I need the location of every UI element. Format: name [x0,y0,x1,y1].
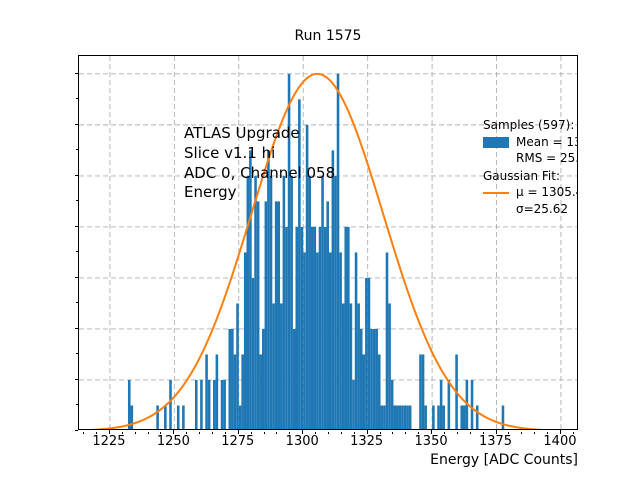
histogram-bar [241,354,244,430]
matplotlib-figure: Run 1575 02468101214 1225125012751300132… [0,0,640,480]
chart-canvas [79,56,578,430]
y-tick-mark [75,430,79,431]
histogram-bar [399,405,402,430]
histogram-bar [311,227,314,430]
histogram-bar [393,405,396,430]
histogram-bar [303,252,306,430]
x-tick-mark [276,432,277,435]
x-tick-mark [302,430,303,434]
histogram-bar [409,405,412,430]
x-tick-mark [251,432,252,435]
x-tick-mark [212,432,213,435]
histogram-bar [381,405,384,430]
histogram-bar [437,405,440,430]
x-tick-mark [496,430,497,434]
histogram-bar [476,405,479,430]
x-tick-label: 1250 [157,434,190,449]
x-tick-mark [225,432,226,435]
x-tick-mark [264,432,265,435]
legend-entry-histogram: Mean = 1305.448 [483,135,578,151]
x-tick-mark [109,430,110,434]
histogram-bar [324,227,327,430]
histogram-bar [406,405,409,430]
legend-samples-header: Samples (597): [483,118,578,134]
x-tick-mark [521,432,522,435]
histogram-bar [502,405,505,430]
legend: Samples (597): Mean = 1305.448 RMS = 25.… [483,118,578,220]
histogram-bar [424,405,427,430]
histogram-bar [208,380,211,430]
x-tick-mark [560,430,561,434]
histogram-bar [156,405,159,430]
histogram-bar [254,176,257,430]
histogram-bar [401,405,404,430]
x-tick-mark [418,432,419,435]
histogram-bar [200,380,203,430]
x-tick-label: 1300 [286,434,319,449]
histogram-bar [213,380,216,430]
histogram-bar [265,201,268,430]
legend-group-samples: Samples (597): Mean = 1305.448 RMS = 25.… [483,118,578,167]
histogram-bar [347,227,350,430]
x-tick-mark [83,432,84,435]
y-axis-tick-labels: 02468101214 [0,0,72,480]
x-tick-mark [367,430,368,434]
histogram-bar [375,329,378,430]
histogram-bar [422,354,425,430]
histogram-bar [448,380,451,430]
histogram-bar [316,252,319,430]
histogram-bar [252,278,255,430]
annotation-line-3: ADC 0, Channel 058 [184,164,335,182]
x-tick-label: 1350 [415,434,448,449]
histogram-bar [164,405,167,430]
histogram-bar [270,176,273,430]
histogram-bar [177,405,180,430]
legend-fit-sigma: σ=25.62 [516,202,578,218]
x-tick-label: 1325 [350,434,383,449]
x-tick-mark [341,432,342,435]
x-tick-mark [160,432,161,435]
histogram-bar [329,252,332,430]
histogram-bar [205,354,208,430]
histogram-bar [360,329,363,430]
histogram-bar [257,201,260,430]
histogram-bar [337,74,340,430]
x-tick-mark [199,432,200,435]
histogram-bar [419,354,422,430]
histogram-bar [432,405,435,430]
histogram-bar [368,278,371,430]
x-tick-label: 1400 [543,434,576,449]
legend-entry-fit: μ = 1305.45 [483,185,578,201]
x-tick-mark [289,432,290,435]
x-tick-mark [328,432,329,435]
x-tick-mark [444,432,445,435]
x-tick-mark [122,432,123,435]
histogram-bar [357,303,360,430]
histogram-bar [247,176,250,430]
histogram-bar [290,176,293,430]
x-tick-mark [315,432,316,435]
histogram-bar [195,380,198,430]
x-tick-mark [392,432,393,435]
histogram-bar [236,303,239,430]
x-axis-label: Energy [ADC Counts] [430,452,578,468]
histogram-bar [370,329,373,430]
histogram-bar [440,380,443,430]
histogram-bar [373,329,376,430]
legend-group-fit: Gaussian Fit: μ = 1305.45 σ=25.62 [483,169,578,218]
histogram-bar [182,405,185,430]
histogram-bar [283,176,286,430]
x-tick-label: 1375 [479,434,512,449]
histogram-bar [391,380,394,430]
histogram-bar [404,405,407,430]
histogram-bar [216,354,219,430]
x-tick-mark [238,430,239,434]
histogram-bar [301,227,304,430]
histogram-bar [321,176,324,430]
histogram-bar [442,405,445,430]
histogram-bar [334,176,337,430]
x-tick-label: 1225 [92,434,125,449]
histogram-bar [319,227,322,430]
histogram-bar [239,405,242,430]
histogram-bar [221,380,224,430]
histogram-bar [231,329,234,430]
histogram-bar [293,329,296,430]
histogram-bar [234,354,237,430]
x-tick-mark [380,432,381,435]
histogram-bar [471,380,474,430]
page-title: Run 1575 [78,28,578,44]
plot-area: ATLAS Upgrade Slice v1.1 hi ADC 0, Chann… [78,55,578,430]
x-tick-mark [405,432,406,435]
x-tick-mark [354,432,355,435]
histogram-bar [339,252,342,430]
x-tick-mark [173,430,174,434]
histogram-bar [396,405,399,430]
histogram-bar [326,201,329,430]
histogram-bar [128,380,131,430]
annotation-line-4: Energy [184,183,237,201]
legend-samples-rms: RMS = 25.623 [516,151,578,167]
histogram-bar [131,405,134,430]
legend-samples-mean: Mean = 1305.448 [516,135,578,151]
legend-fit-header: Gaussian Fit: [483,169,578,185]
histogram-bar [365,278,368,430]
x-tick-mark [96,432,97,435]
histogram-bar [342,303,345,430]
histogram-bar [308,176,311,430]
legend-swatch-histogram [483,137,509,148]
x-tick-mark [457,432,458,435]
x-tick-mark [547,432,548,435]
histogram-bar [275,201,278,430]
x-tick-mark [508,432,509,435]
histogram-bar [355,252,358,430]
annotation-text: ATLAS Upgrade Slice v1.1 hi ADC 0, Chann… [184,124,335,203]
x-tick-mark [470,432,471,435]
histogram-bar [228,329,231,430]
histogram-bar [363,354,366,430]
y-axis-label: Entries [0,177,2,222]
histogram-bar [460,405,463,430]
x-tick-mark [186,432,187,435]
x-tick-mark [431,430,432,434]
histogram-bar [277,201,280,430]
histogram-bar [259,354,262,430]
histogram-bar [295,227,298,430]
histogram-bar [314,227,317,430]
annotation-line-1: ATLAS Upgrade [184,124,300,142]
x-tick-mark [135,432,136,435]
histogram-bar [344,227,347,430]
histogram-bar [223,380,226,430]
histogram-bar [285,227,288,430]
x-tick-mark [573,432,574,435]
histogram-bar [262,329,265,430]
legend-swatch-fit-line [483,192,509,194]
legend-fit-mu: μ = 1305.45 [516,185,578,201]
histogram-bar [383,405,386,430]
histogram-bar [169,380,172,430]
x-tick-label: 1275 [221,434,254,449]
annotation-line-2: Slice v1.1 hi [184,144,275,162]
histogram-bar [272,303,275,430]
histogram-bar [386,252,389,430]
histogram-bar [280,303,283,430]
x-tick-mark [148,432,149,435]
histogram-bar [378,354,381,430]
histogram-bar [463,405,466,430]
histogram-bar [350,303,353,430]
x-tick-mark [483,432,484,435]
histogram-bar [352,380,355,430]
histogram-bar [388,303,391,430]
x-tick-mark [534,432,535,435]
histogram-bar [244,252,247,430]
